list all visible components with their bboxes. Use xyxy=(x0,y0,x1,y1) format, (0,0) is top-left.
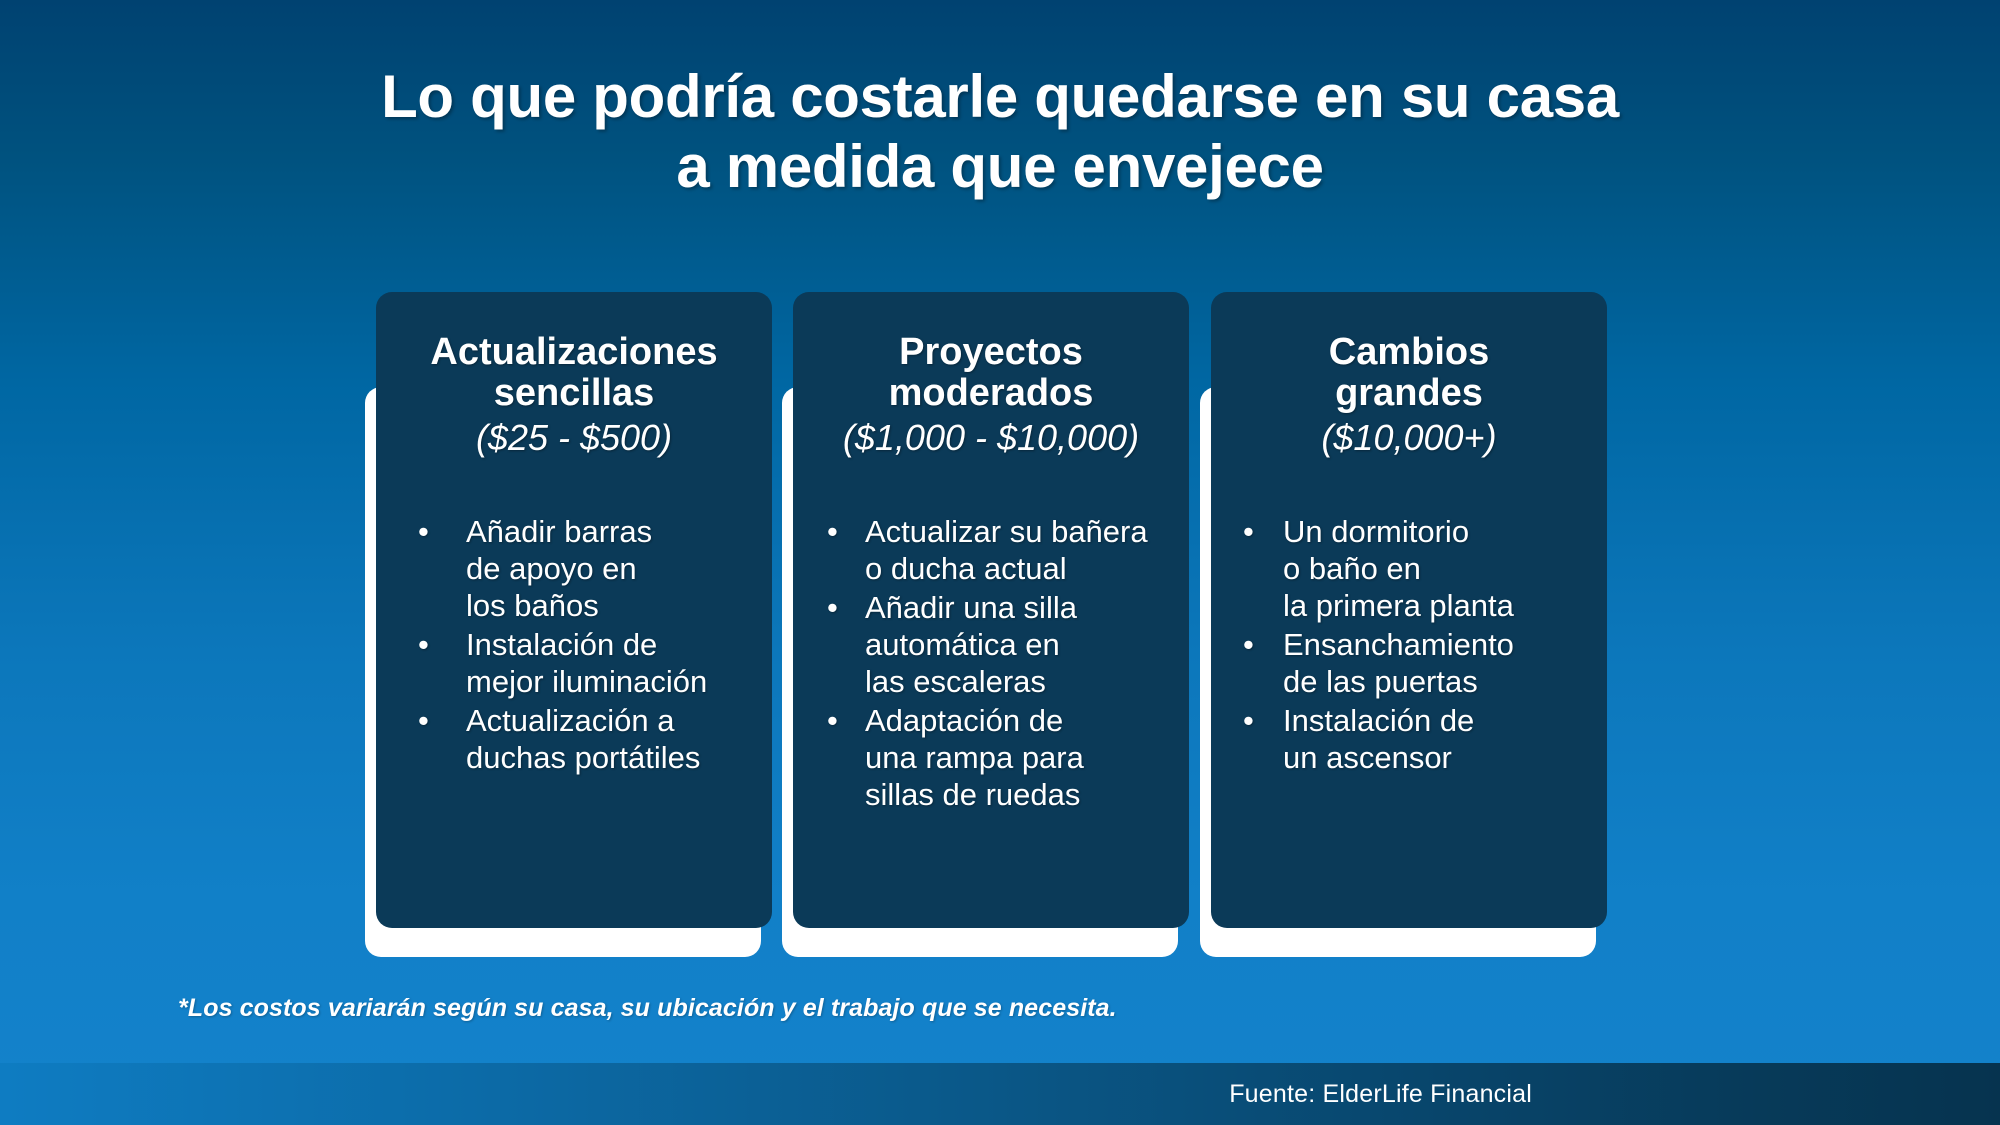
list-item-text: Adaptación de una rampa para sillas de r… xyxy=(865,703,1173,814)
card-title-2-line-1: Proyectos xyxy=(809,332,1173,373)
list-item-text: Añadir barras de apoyo en los baños xyxy=(466,514,756,625)
list-item: • Actualizar su bañera o ducha actual xyxy=(813,514,1173,588)
card-body-2: Proyectos moderados ($1,000 - $10,000) •… xyxy=(793,292,1189,928)
list-item: • Actualización a duchas portátiles xyxy=(404,703,756,777)
list-item: • Añadir una silla automática en las esc… xyxy=(813,590,1173,701)
card-bullet-list-2: • Actualizar su bañera o ducha actual • … xyxy=(809,514,1173,813)
list-item-text: Añadir una silla automática en las escal… xyxy=(865,590,1173,701)
list-item: • Adaptación de una rampa para sillas de… xyxy=(813,703,1173,814)
cost-tier-card-1: Actualizaciones sencillas ($25 - $500) •… xyxy=(376,292,772,952)
page-title-line-2: a medida que envejece xyxy=(0,132,2000,202)
list-item: • Añadir barras de apoyo en los baños xyxy=(404,514,756,625)
card-title-3-line-1: Cambios xyxy=(1227,332,1591,373)
card-bullet-list-1: • Añadir barras de apoyo en los baños • … xyxy=(392,514,756,776)
cost-tier-card-2: Proyectos moderados ($1,000 - $10,000) •… xyxy=(793,292,1189,952)
cost-tier-card-3: Cambios grandes ($10,000+) • Un dormitor… xyxy=(1211,292,1607,952)
card-body-3: Cambios grandes ($10,000+) • Un dormitor… xyxy=(1211,292,1607,928)
page-title-line-1: Lo que podría costarle quedarse en su ca… xyxy=(0,62,2000,132)
card-title-3: Cambios grandes xyxy=(1227,332,1591,414)
card-title-3-line-2: grandes xyxy=(1227,373,1591,414)
infographic-slide: Lo que podría costarle quedarse en su ca… xyxy=(0,0,2000,1125)
bullet-dot-icon: • xyxy=(827,590,838,627)
card-price-range-2: ($1,000 - $10,000) xyxy=(809,418,1173,458)
card-title-1: Actualizaciones sencillas xyxy=(392,332,756,414)
bullet-dot-icon: • xyxy=(1243,514,1254,551)
card-bullet-list-3: • Un dormitorio o baño en la primera pla… xyxy=(1227,514,1591,776)
list-item: • Un dormitorio o baño en la primera pla… xyxy=(1229,514,1591,625)
list-item: • Ensanchamiento de las puertas xyxy=(1229,627,1591,701)
list-item: • Instalación de un ascensor xyxy=(1229,703,1591,777)
card-title-1-line-2: sencillas xyxy=(392,373,756,414)
list-item-text: Ensanchamiento de las puertas xyxy=(1283,627,1591,701)
bullet-dot-icon: • xyxy=(827,514,838,551)
card-body-1: Actualizaciones sencillas ($25 - $500) •… xyxy=(376,292,772,928)
bullet-dot-icon: • xyxy=(1243,627,1254,664)
bullet-dot-icon: • xyxy=(827,703,838,740)
list-item-text: Instalación de un ascensor xyxy=(1283,703,1591,777)
list-item-text: Instalación de mejor iluminación xyxy=(466,627,756,701)
disclaimer-footnote: *Los costos variarán según su casa, su u… xyxy=(178,994,1117,1023)
card-price-range-1: ($25 - $500) xyxy=(392,418,756,458)
list-item-text: Actualizar su bañera o ducha actual xyxy=(865,514,1173,588)
cost-tier-card-list: Actualizaciones sencillas ($25 - $500) •… xyxy=(0,292,2000,952)
bullet-dot-icon: • xyxy=(418,514,429,551)
page-title: Lo que podría costarle quedarse en su ca… xyxy=(0,62,2000,201)
bullet-dot-icon: • xyxy=(418,627,429,664)
source-bar: Fuente: ElderLife Financial xyxy=(0,1063,2000,1125)
bullet-dot-icon: • xyxy=(1243,703,1254,740)
card-title-1-line-1: Actualizaciones xyxy=(392,332,756,373)
list-item: • Instalación de mejor iluminación xyxy=(404,627,756,701)
bullet-dot-icon: • xyxy=(418,703,429,740)
card-title-2-line-2: moderados xyxy=(809,373,1173,414)
card-price-range-3: ($10,000+) xyxy=(1227,418,1591,458)
card-title-2: Proyectos moderados xyxy=(809,332,1173,414)
list-item-text: Un dormitorio o baño en la primera plant… xyxy=(1283,514,1591,625)
source-attribution: Fuente: ElderLife Financial xyxy=(1229,1080,1532,1109)
list-item-text: Actualización a duchas portátiles xyxy=(466,703,756,777)
